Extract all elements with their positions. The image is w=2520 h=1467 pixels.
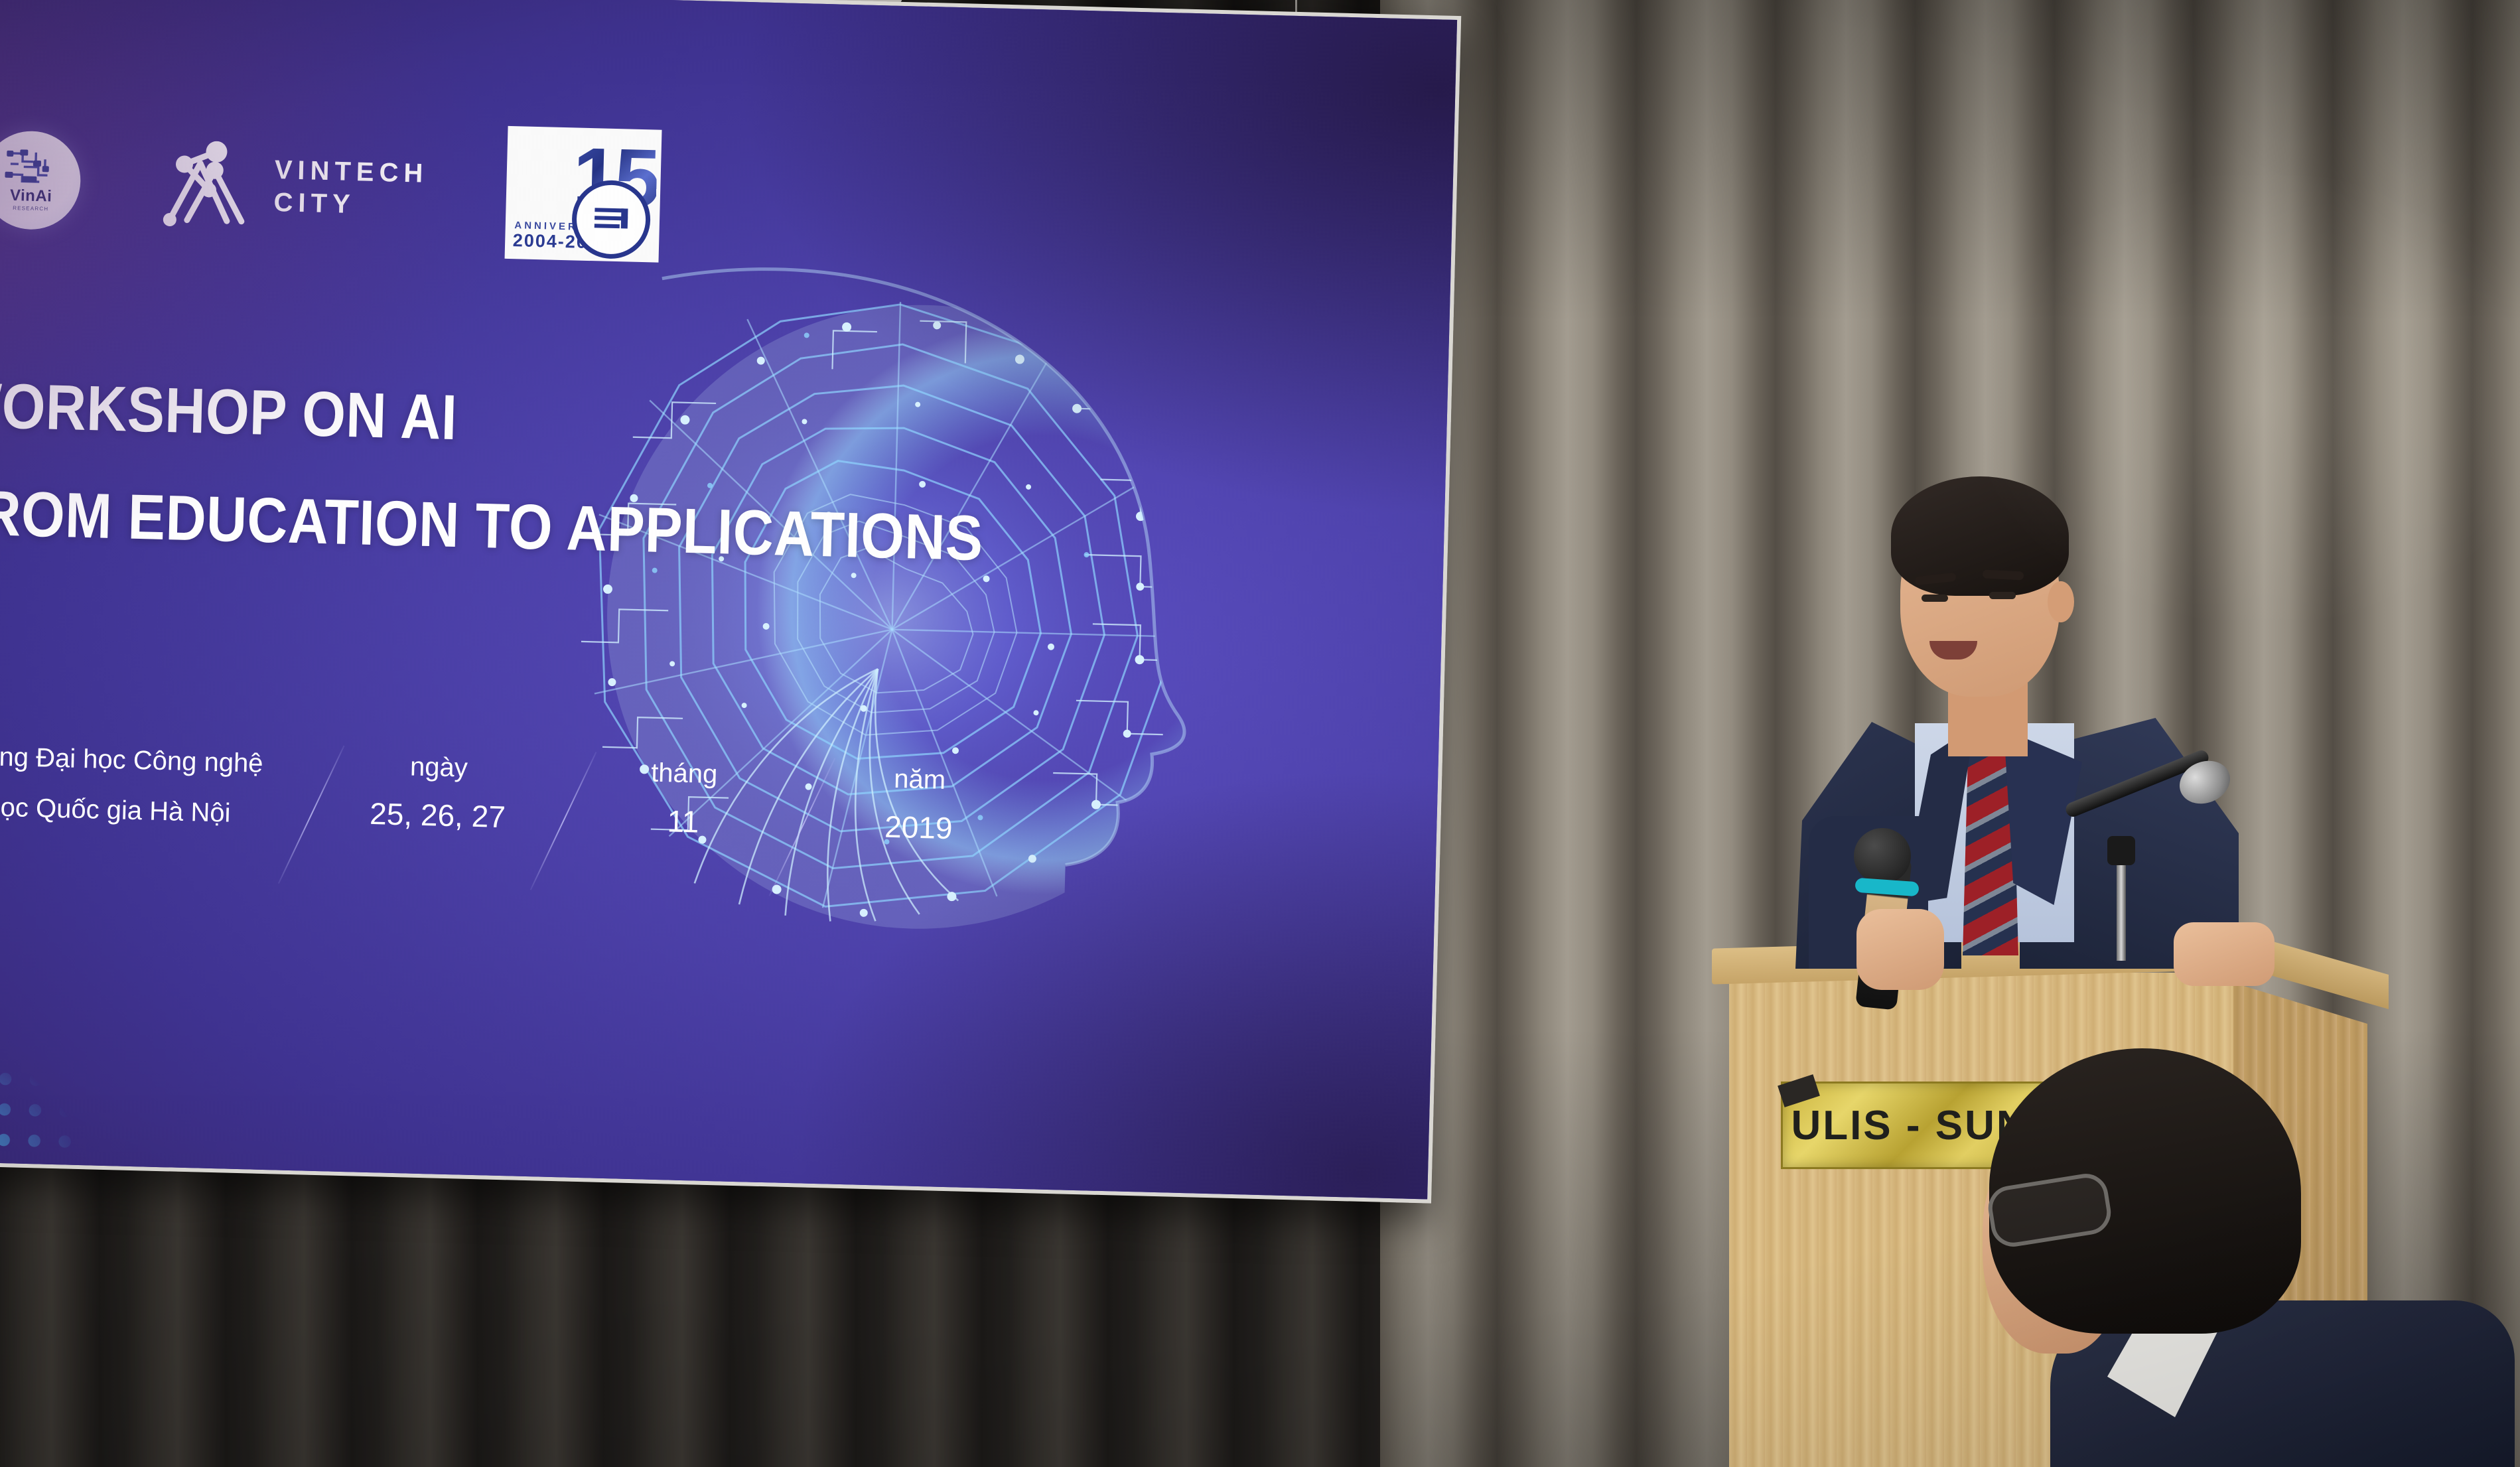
venue-line-2: Đại học Quốc gia Hà Nội <box>0 791 262 829</box>
month-label: tháng <box>614 758 754 790</box>
year-block: năm 2019 <box>852 764 987 846</box>
banner-meta-strip: Trường Đại học Công nghệ Đại học Quốc gi… <box>0 741 987 908</box>
vintech-mountain-icon <box>158 140 258 230</box>
vintech-city-logo: VINTECH CITY <box>158 140 429 234</box>
day-block: ngày 25, 26, 27 <box>361 752 516 835</box>
headline-line-2: FROM EDUCATION TO APPLICATIONS <box>0 466 984 586</box>
halftone-dot-pattern <box>0 904 214 1182</box>
vintech-word-line1: VINTECH <box>274 154 429 190</box>
banner-headline: WORKSHOP ON AI FROM EDUCATION TO APPLICA… <box>0 359 1129 589</box>
workshop-backdrop-banner: VinAi RESEARCH <box>0 0 1461 1204</box>
gooseneck-joint <box>2107 836 2135 865</box>
banner-logo-row: VinAi RESEARCH <box>0 113 662 263</box>
vinai-logo: VinAi RESEARCH <box>0 130 82 231</box>
uet-15th-anniversary-logo: 15 ANNIVERSARY 2004-2019 <box>504 126 662 263</box>
banner-printed-face: VinAi RESEARCH <box>0 0 1457 1199</box>
vintech-city-wordmark: VINTECH CITY <box>273 154 429 222</box>
meta-divider-2 <box>530 752 597 890</box>
speaker-ear <box>2048 581 2074 622</box>
vintech-word-line2: CITY <box>273 186 428 223</box>
month-value: 11 <box>613 803 753 840</box>
vinai-logo-text: VinAi <box>10 187 52 204</box>
year-label: năm <box>853 764 987 796</box>
venue-line-1: Trường Đại học Công nghệ <box>0 741 263 780</box>
speaker-hand-holding-mic <box>1856 909 1944 990</box>
vinai-circuit-mark <box>3 146 60 188</box>
day-label: ngày <box>362 752 516 784</box>
microphone-grille-icon <box>1854 828 1911 884</box>
year-value: 2019 <box>852 810 985 847</box>
conference-photo-scene: VinAi RESEARCH <box>0 0 2520 1467</box>
day-value: 25, 26, 27 <box>361 798 514 834</box>
meta-divider-1 <box>278 745 345 884</box>
month-block: tháng 11 <box>613 758 754 840</box>
ai-neural-head-graphic <box>443 194 1341 1091</box>
uet-emblem-mark <box>591 204 630 235</box>
gooseneck-microphone <box>2038 762 2237 961</box>
speaker-eye-right <box>1989 592 2016 599</box>
speaker-eye-left <box>1922 594 1948 602</box>
venue-block: Trường Đại học Công nghệ Đại học Quốc gi… <box>0 741 263 829</box>
seated-man-foreground <box>1977 1035 2520 1467</box>
vinai-logo-subtext: RESEARCH <box>13 205 48 212</box>
meta-divider-3 <box>769 758 836 896</box>
